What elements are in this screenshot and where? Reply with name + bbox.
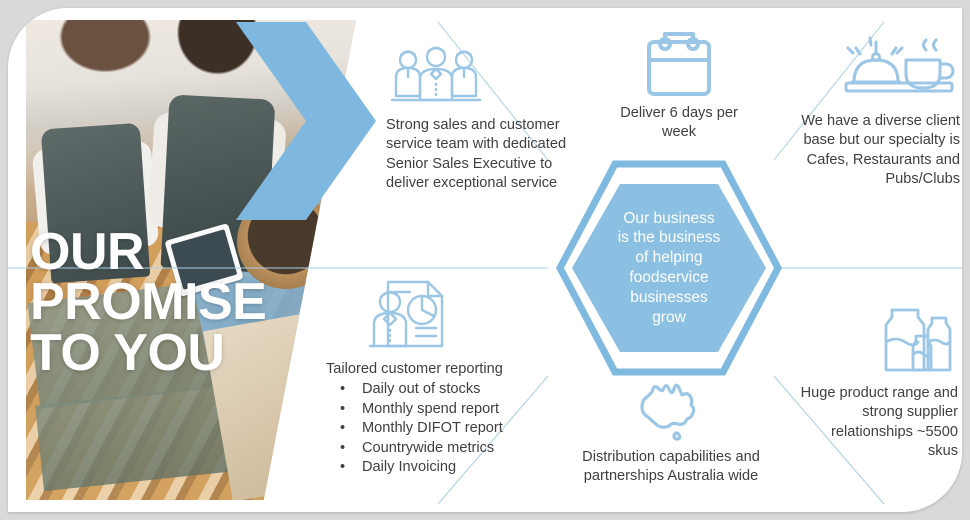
- card-inner: OUR PROMISE TO YOU: [8, 8, 962, 512]
- cloche-coffee-cup-icon: [840, 30, 960, 104]
- chevron-right-icon: [236, 22, 376, 220]
- calendar-icon: [641, 28, 717, 98]
- cell-client-base: We have a diverse client base but our sp…: [780, 30, 960, 190]
- list-item: Daily out of stocks: [326, 380, 554, 399]
- cell-client-base-text: We have a diverse client base but our sp…: [780, 112, 960, 190]
- list-item: Monthly spend report: [326, 400, 554, 419]
- cell-product-range: Huge product range and strong supplier r…: [798, 304, 958, 462]
- report-person-piechart-icon: [364, 276, 450, 352]
- list-item: Monthly DIFOT report: [326, 419, 554, 438]
- cell-customer-reporting: Tailored customer reporting Daily out of…: [326, 276, 554, 477]
- reporting-bullet-list: Daily out of stocks Monthly spend report…: [326, 380, 554, 477]
- center-hexagon: [556, 160, 782, 376]
- cell-product-range-text: Huge product range and strong supplier r…: [798, 384, 958, 462]
- people-group-icon: [388, 44, 484, 106]
- slide-canvas: OUR PROMISE TO YOU: [0, 0, 970, 520]
- list-item: Countrywide metrics: [326, 439, 554, 458]
- cell-delivery-frequency: Deliver 6 days per week: [604, 28, 754, 143]
- promise-card: OUR PROMISE TO YOU: [8, 8, 962, 512]
- australia-map-icon: [630, 378, 712, 444]
- cell-distribution-text: Distribution capabilities and partnershi…: [564, 448, 778, 487]
- bottles-containers-icon: [876, 304, 958, 378]
- cell-customer-reporting-heading: Tailored customer reporting: [326, 360, 554, 379]
- cell-delivery-frequency-text: Deliver 6 days per week: [604, 104, 754, 143]
- cell-distribution: Distribution capabilities and partnershi…: [564, 378, 778, 487]
- list-item: Daily Invoicing: [326, 458, 554, 477]
